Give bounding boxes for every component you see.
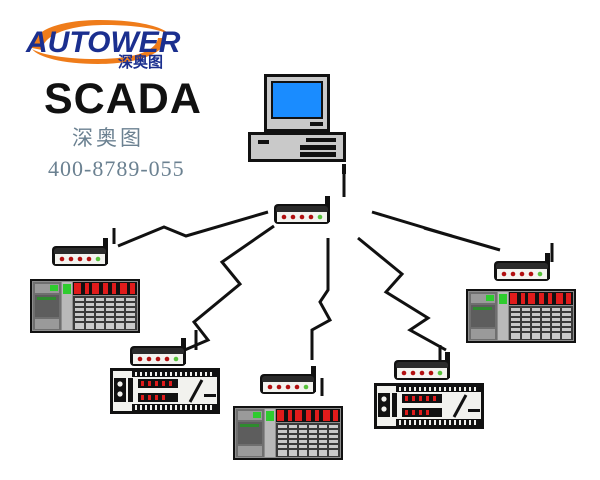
strip-div-1: [520, 306, 522, 340]
node-plc-rack-northeast[interactable]: [466, 285, 576, 345]
rtu-port-2: [381, 406, 386, 411]
router-led-2: [147, 357, 152, 362]
io-term-3: [528, 293, 535, 304]
io-term-1: [510, 293, 517, 304]
io-term-5: [548, 293, 552, 304]
strip-div-4: [550, 306, 552, 340]
cpu-display: [473, 307, 492, 310]
router-led-3: [156, 357, 161, 362]
router-led-1: [268, 385, 273, 390]
router-led-1: [60, 257, 65, 262]
router-led-5: [318, 215, 323, 220]
strip-div-4: [317, 423, 319, 457]
plc-rack-icon: [233, 402, 343, 462]
router-led-5: [538, 272, 543, 277]
rtu-port-2: [117, 391, 122, 396]
rtu-top-rail: [132, 371, 217, 377]
case-button: [258, 140, 269, 144]
case-slot-1: [306, 138, 336, 142]
io-term-4: [103, 283, 108, 294]
node-operator-workstation[interactable]: [248, 74, 346, 174]
router-led-5: [96, 257, 101, 262]
router-led-1: [282, 215, 287, 220]
node-rtu-controller-west[interactable]: [110, 368, 220, 420]
io-term-1: [74, 283, 81, 294]
strip-div-3: [307, 423, 309, 457]
plc-rack-icon: [466, 285, 576, 345]
io-module-group: [509, 292, 573, 305]
rtu-port-1: [117, 381, 122, 386]
router-led-4: [295, 385, 300, 390]
cpu-bottom: [471, 329, 495, 339]
router-led-5: [174, 357, 179, 362]
io-term-4: [306, 410, 311, 421]
rtu-brand-bar: [468, 409, 480, 412]
rtu-switch: [392, 393, 397, 417]
strip-div-5: [327, 423, 329, 457]
case-slot-2: [300, 145, 336, 150]
strip-div-3: [104, 296, 106, 330]
case-antenna-stub-icon: [342, 164, 346, 174]
router-led-3: [300, 215, 305, 220]
router-led-1: [502, 272, 507, 277]
cpu-bottom: [238, 446, 262, 456]
router-top-band: [496, 263, 548, 270]
router-led-2: [291, 215, 296, 220]
io-term-7: [130, 283, 135, 294]
cpu-bottom: [35, 319, 59, 329]
router-led-4: [429, 371, 434, 376]
io-term-7: [566, 293, 571, 304]
router-led-3: [286, 385, 291, 390]
strip-div-4: [114, 296, 116, 330]
io-term-6: [120, 283, 127, 294]
cpu-display: [240, 424, 259, 427]
terminal-strip-grid: [73, 296, 137, 330]
power-led: [266, 411, 274, 421]
rtu-bottom-rail: [396, 419, 481, 426]
node-rtu-controller-east[interactable]: [374, 383, 484, 435]
router-top-band: [396, 362, 448, 369]
io-term-2: [521, 293, 525, 304]
strip-div-5: [124, 296, 126, 330]
router-led-4: [87, 257, 92, 262]
cpu-run-led: [486, 295, 494, 301]
cpu-display: [37, 297, 56, 300]
rtu-bottom-rail: [132, 404, 217, 411]
io-term-5: [112, 283, 116, 294]
strip-div-2: [530, 306, 532, 340]
io-module-group: [276, 409, 340, 422]
rtu-controller-icon: [110, 368, 220, 420]
screen: [273, 83, 321, 117]
terminal-strip-grid: [276, 423, 340, 457]
router-led-4: [165, 357, 170, 362]
strip-div-5: [560, 306, 562, 340]
io-term-2: [85, 283, 89, 294]
io-term-3: [92, 283, 99, 294]
router-led-2: [511, 272, 516, 277]
router-led-2: [277, 385, 282, 390]
wireless-router-icon: [272, 196, 352, 240]
router-top-band: [132, 348, 184, 355]
node-plc-rack-northwest[interactable]: [30, 275, 140, 335]
cpu-run-led: [50, 285, 58, 291]
router-led-1: [402, 371, 407, 376]
node-central-wireless-gateway[interactable]: [272, 196, 352, 240]
router-led-5: [438, 371, 443, 376]
link-hub-e: [358, 238, 446, 350]
monitor-badge: [310, 122, 323, 126]
rtu-switch: [128, 378, 133, 402]
io-module-group: [73, 282, 137, 295]
io-term-6: [323, 410, 330, 421]
strip-div-1: [287, 423, 289, 457]
router-led-4: [309, 215, 314, 220]
router-top-band: [276, 206, 328, 213]
strip-div-2: [297, 423, 299, 457]
rtu-top-rail: [396, 386, 481, 392]
link-hub-nw: [118, 212, 268, 246]
router-led-2: [411, 371, 416, 376]
link-hub-ne: [372, 212, 500, 250]
computer-icon: [248, 74, 346, 174]
router-led-2: [69, 257, 74, 262]
router-top-band: [262, 376, 314, 383]
plc-rack-icon: [30, 275, 140, 335]
router-led-4: [529, 272, 534, 277]
terminal-strip-grid: [509, 306, 573, 340]
io-term-5: [315, 410, 319, 421]
cpu-run-led: [253, 412, 261, 418]
router-top-band: [54, 248, 106, 255]
io-term-4: [539, 293, 544, 304]
io-term-1: [277, 410, 284, 421]
rtu-port-1: [381, 396, 386, 401]
rtu-brand-bar: [204, 394, 216, 397]
router-led-3: [420, 371, 425, 376]
io-term-7: [333, 410, 338, 421]
router-led-3: [520, 272, 525, 277]
link-hub-s: [312, 238, 330, 360]
node-plc-rack-south[interactable]: [233, 402, 343, 462]
strip-div-2: [94, 296, 96, 330]
router-led-5: [304, 385, 309, 390]
rtu-controller-icon: [374, 383, 484, 435]
io-term-3: [295, 410, 302, 421]
power-led: [499, 294, 507, 304]
io-term-2: [288, 410, 292, 421]
router-led-1: [138, 357, 143, 362]
io-term-6: [556, 293, 563, 304]
router-led-3: [78, 257, 83, 262]
strip-div-1: [84, 296, 86, 330]
case-slot-3: [300, 152, 336, 157]
strip-div-3: [540, 306, 542, 340]
diagram-canvas: AUTOWER 深奥图 SCADA 深奥图 400-8789-055: [0, 0, 600, 480]
power-led: [63, 284, 71, 294]
